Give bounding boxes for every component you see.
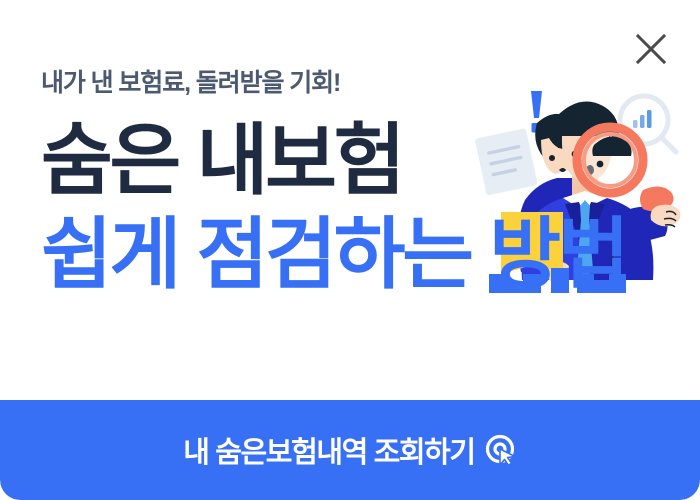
cta-label: 내 숨은보험내역 조회하기 xyxy=(183,429,474,471)
cta-button[interactable]: 내 숨은보험내역 조회하기 xyxy=(0,400,700,500)
close-button[interactable] xyxy=(630,30,672,72)
headline-secondary: 쉽게 점검하는 방법 xyxy=(41,215,626,293)
click-target-icon xyxy=(485,434,517,466)
eyebrow-text: 내가 낸 보험료, 돌려받을 기회! xyxy=(41,68,626,99)
headline-primary: 숨은 내보험 xyxy=(41,121,626,199)
promo-banner: 내가 낸 보험료, 돌려받을 기회! 숨은 내보험 쉽게 점검하는 방법 xyxy=(0,0,700,500)
copy-block: 내가 낸 보험료, 돌려받을 기회! 숨은 내보험 쉽게 점검하는 방법 xyxy=(41,68,626,293)
arm-right-with-hand xyxy=(627,186,680,244)
close-icon xyxy=(634,32,668,71)
